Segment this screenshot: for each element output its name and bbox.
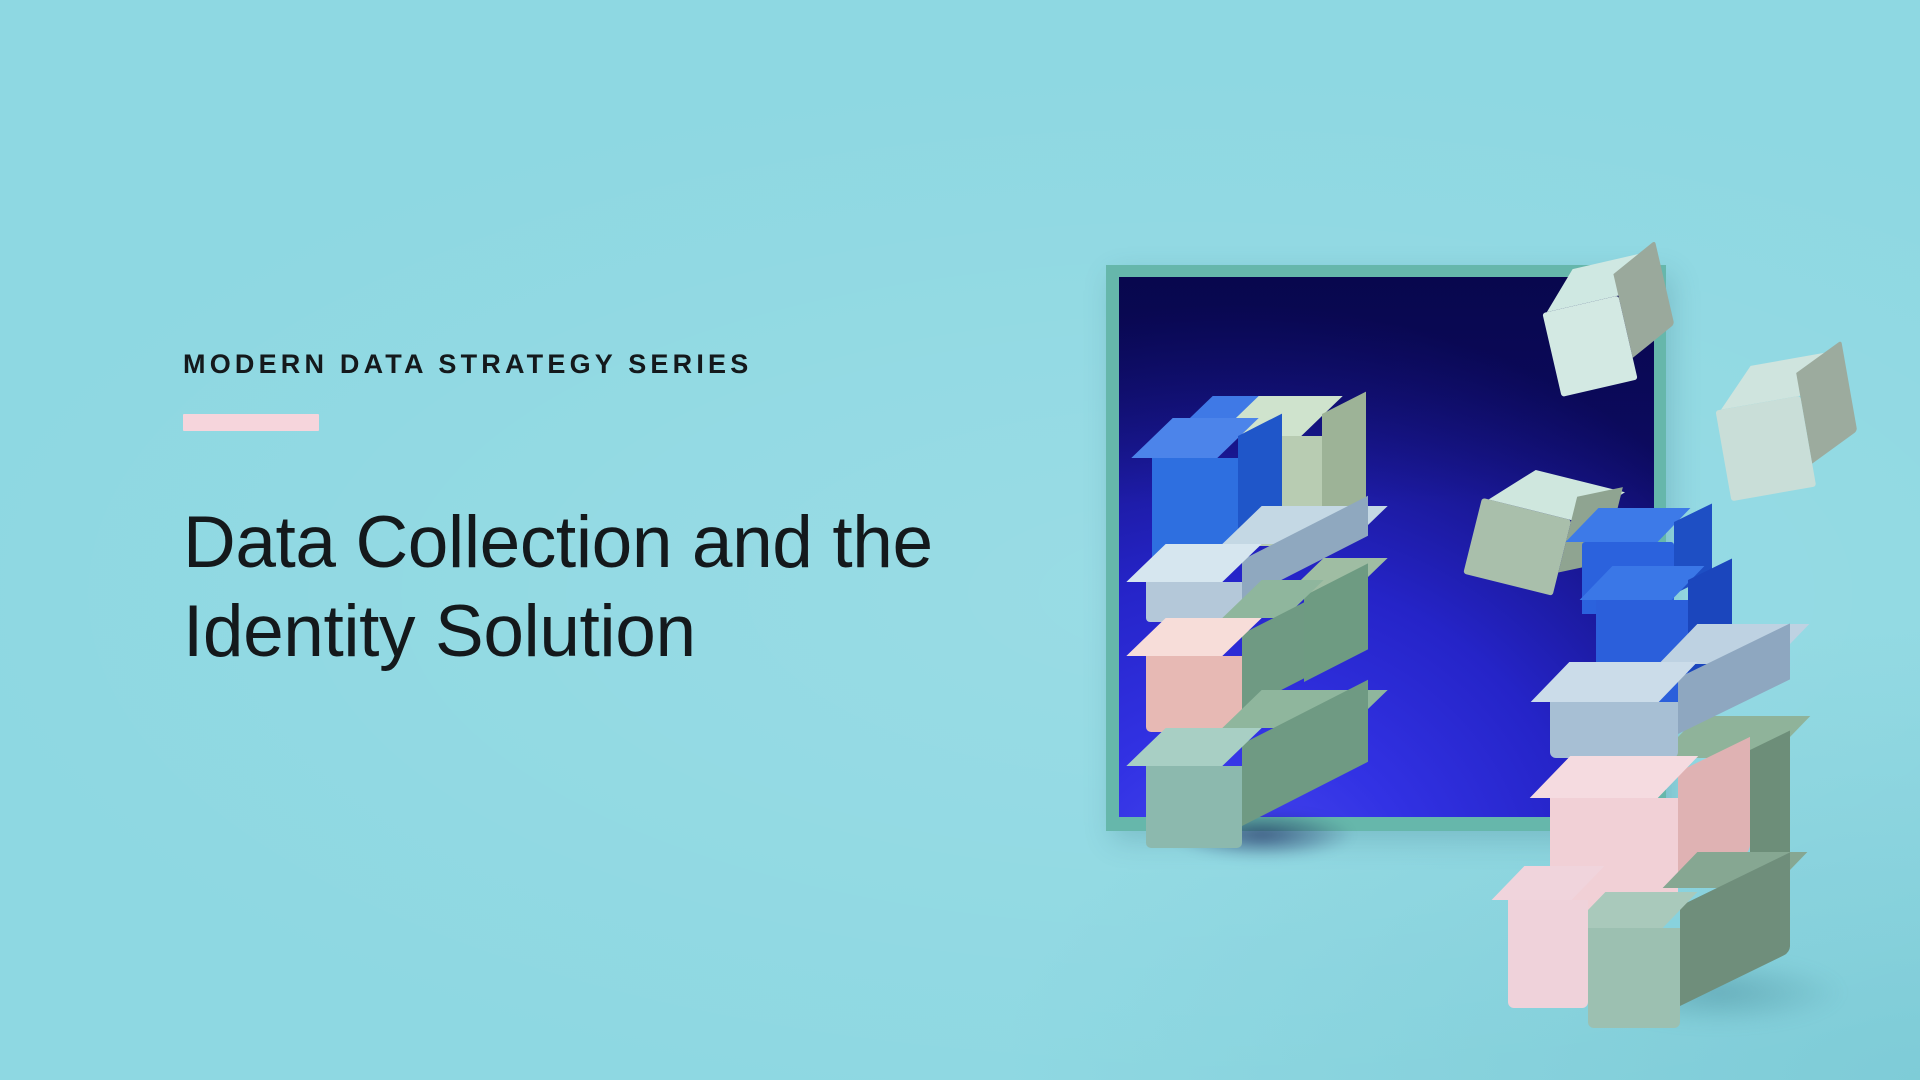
block-face-top [1566,508,1691,542]
block-face-front [1550,702,1678,758]
artwork-stage [1060,200,1920,1080]
page-title: Data Collection and the Identity Solutio… [183,498,1043,676]
block-face-front [1508,900,1588,1008]
accent-rule [183,414,319,431]
headline-line-1: Data Collection and the [183,502,933,583]
text-column: MODERN DATA STRATEGY SERIES Data Collect… [183,350,1043,676]
left-block-tower [1152,418,1382,858]
block-face-front [1588,928,1680,1028]
eyebrow-series-label: MODERN DATA STRATEGY SERIES [183,350,1043,380]
block-face-front [1146,656,1242,732]
right-block-tower [1560,510,1880,1030]
block-face-front [1716,396,1817,502]
floating-cube-right [1709,349,1871,511]
headline-line-2: Identity Solution [183,587,1043,676]
block-face-front [1146,766,1242,848]
